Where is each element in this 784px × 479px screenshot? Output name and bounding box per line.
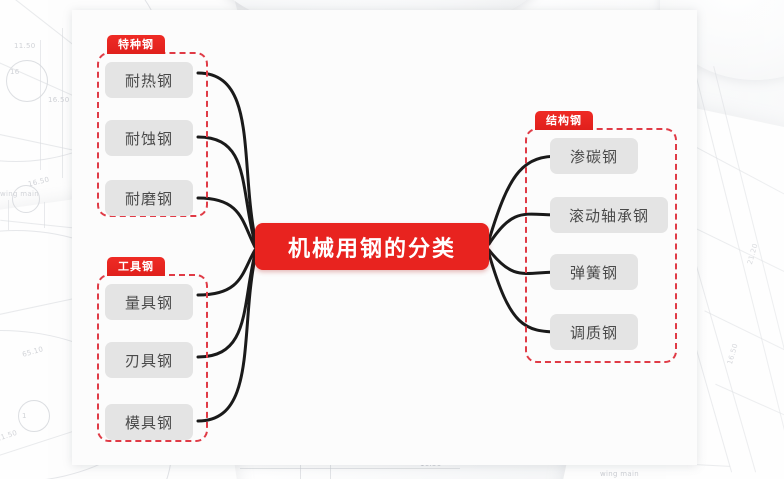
- node-heat-resistant-steel[interactable]: 耐热钢: [105, 62, 193, 98]
- node-corrosion-resistant-steel[interactable]: 耐蚀钢: [105, 120, 193, 156]
- node-cutting-tool-steel[interactable]: 刃具钢: [105, 342, 193, 378]
- node-spring-steel[interactable]: 弹簧钢: [550, 254, 638, 290]
- mindmap-canvas: 特种钢 耐热钢 耐蚀钢 耐磨钢 工具钢 量具钢 刃具钢 模具钢 结构钢 渗碳钢 …: [72, 10, 697, 465]
- group-label-tool-steel: 工具钢: [107, 257, 165, 276]
- group-label-structural-steel: 结构钢: [535, 111, 593, 130]
- node-rolling-bearing-steel[interactable]: 滚动轴承钢: [550, 197, 668, 233]
- node-die-steel[interactable]: 模具钢: [105, 404, 193, 440]
- node-carburizing-steel[interactable]: 渗碳钢: [550, 138, 638, 174]
- node-measuring-tool-steel[interactable]: 量具钢: [105, 284, 193, 320]
- node-quenched-tempered-steel[interactable]: 调质钢: [550, 314, 638, 350]
- node-wear-resistant-steel[interactable]: 耐磨钢: [105, 180, 193, 216]
- group-label-special-steel: 特种钢: [107, 35, 165, 54]
- mindmap-screenshot: 11.50 16 wing main 16.50 1 16.50 65.10 1…: [0, 0, 784, 479]
- center-node-mechanical-steel-classification[interactable]: 机械用钢的分类: [255, 223, 489, 270]
